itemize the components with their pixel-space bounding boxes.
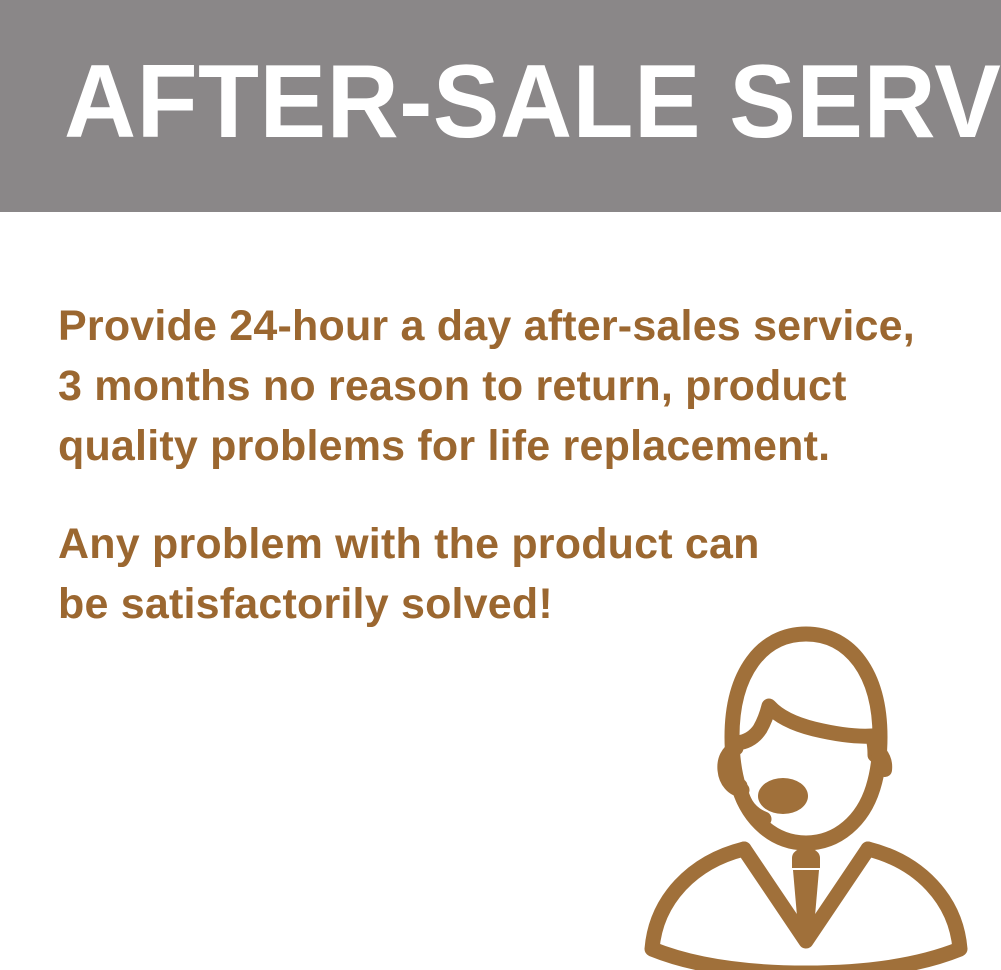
paragraph-service-policy: Provide 24-hour a day after-sales servic… — [58, 296, 958, 476]
necktie-knot — [792, 848, 820, 868]
paragraph-line: Provide 24-hour a day after-sales servic… — [58, 296, 958, 356]
paragraph-line: 3 months no reason to return, product — [58, 356, 958, 416]
page-title: AFTER-SALE SERVICE — [64, 46, 928, 158]
paragraph-line: quality problems for life replacement. — [58, 416, 958, 476]
body-copy: Provide 24-hour a day after-sales servic… — [58, 296, 958, 634]
header-banner: AFTER-SALE SERVICE — [0, 0, 1001, 212]
customer-service-agent-icon — [636, 600, 976, 970]
after-sale-service-panel: AFTER-SALE SERVICE Provide 24-hour a day… — [0, 0, 1001, 970]
agent-icon-svg — [636, 600, 976, 970]
microphone-capsule — [758, 778, 808, 814]
paragraph-line: Any problem with the product can — [58, 514, 958, 574]
hair-fringe — [737, 706, 875, 755]
